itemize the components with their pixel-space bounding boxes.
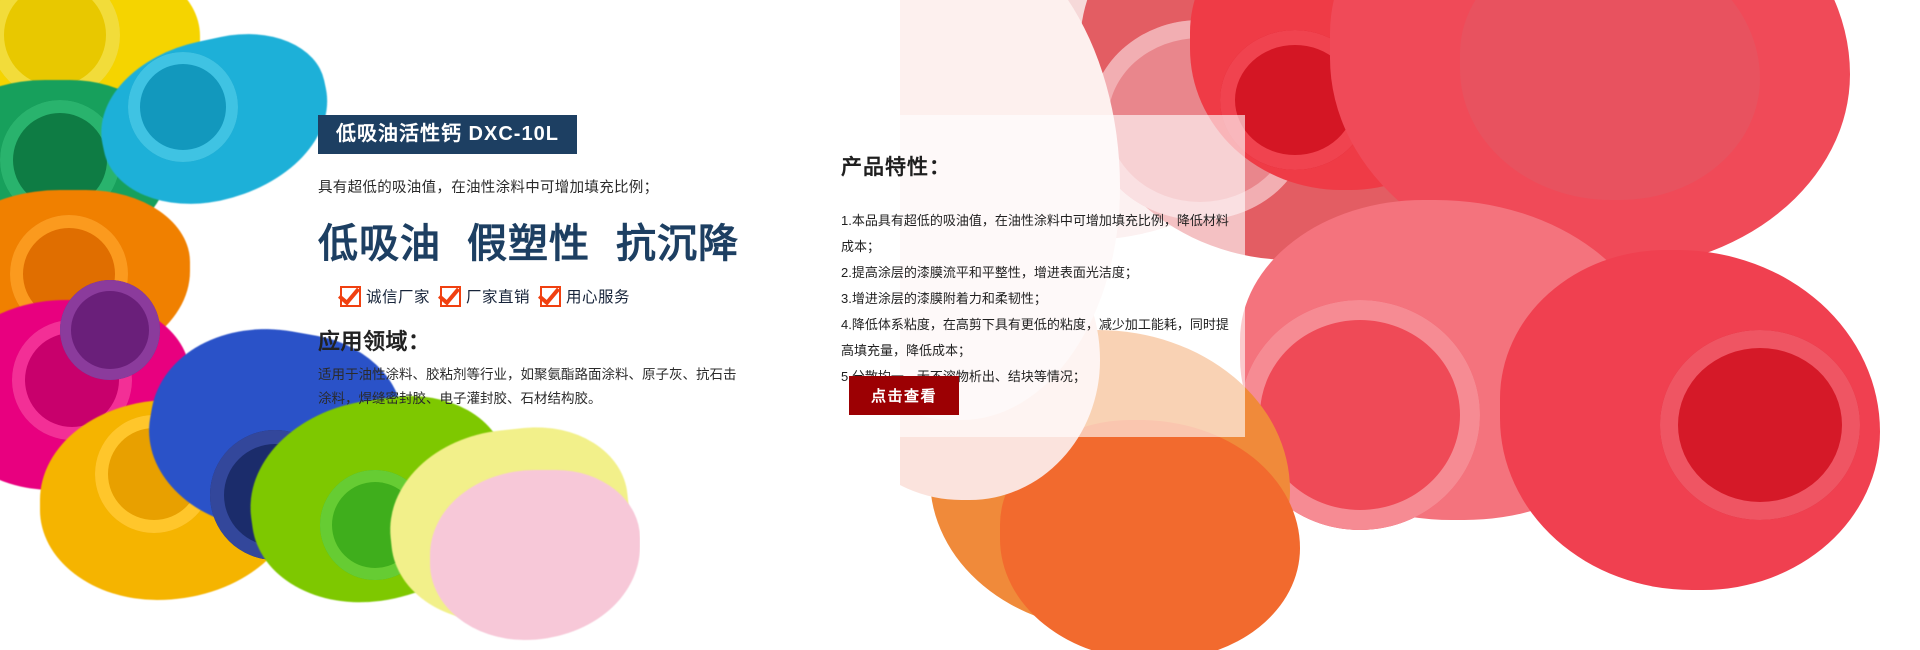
feature-tag-3: 用心服务 [540,285,630,307]
application-line-1: 适用于油性涂料、胶粘剂等行业，如聚氨酯路面涂料、原子灰、抗石击 [318,363,710,387]
product-intro-block: 低吸油活性钙 DXC-10L 具有超低的吸油值，在油性涂料中可增加填充比例； 低… [318,115,718,410]
headline-word-3: 抗沉降 [616,211,739,269]
paint-can-red-4 [1660,330,1860,520]
feature-tag-label-2: 厂家直销 [466,285,530,307]
view-details-button[interactable]: 点击查看 [849,376,959,415]
features-list: 1.本品具有超低的吸油值，在油性涂料中可增加填充比例，降低材料 成本； 2.提高… [841,208,1215,390]
product-title-badge: 低吸油活性钙 DXC-10L [318,115,577,154]
product-headline: 低吸油假塑性抗沉降 [318,211,718,269]
checkbox-checked-icon [540,286,561,307]
feature-line-1: 1.本品具有超低的吸油值，在油性涂料中可增加填充比例，降低材料 [841,208,1215,234]
feature-tag-1: 诚信厂家 [340,285,430,307]
paint-swoosh-pink [430,470,640,640]
checkbox-checked-icon [340,286,361,307]
features-panel-title: 产品特性： [841,151,1215,181]
application-heading: 应用领域： [318,324,718,356]
feature-tag-2: 厂家直销 [440,285,530,307]
feature-line-6: 高填充量，降低成本； [841,338,1215,364]
feature-tag-list: 诚信厂家 厂家直销 用心服务 [318,285,718,307]
checkbox-checked-icon [440,286,461,307]
application-description: 适用于油性涂料、胶粘剂等行业，如聚氨酯路面涂料、原子灰、抗石击 涂料，焊缝密封胶… [318,363,710,410]
feature-line-4: 3.增进涂层的漆膜附着力和柔韧性； [841,286,1215,312]
headline-word-1: 低吸油 [318,211,441,269]
feature-line-3: 2.提高涂层的漆膜流平和平整性，增进表面光洁度； [841,260,1215,286]
features-panel-inner: 产品特性： 1.本品具有超低的吸油值，在油性涂料中可增加填充比例，降低材料 成本… [805,115,1245,390]
feature-tag-label-3: 用心服务 [566,285,630,307]
paint-can-purple [60,280,160,380]
paint-can-cyan [128,52,238,162]
feature-line-2: 成本； [841,234,1215,260]
headline-word-2: 假塑性 [467,211,590,269]
application-line-2: 涂料，焊缝密封胶、电子灌封胶、石材结构胶。 [318,387,710,411]
feature-line-5: 4.降低体系粘度，在高剪下具有更低的粘度，减少加工能耗，同时提 [841,312,1215,338]
banner-stage: 低吸油活性钙 DXC-10L 具有超低的吸油值，在油性涂料中可增加填充比例； 低… [0,0,1920,650]
product-subline: 具有超低的吸油值，在油性涂料中可增加填充比例； [318,176,718,197]
feature-tag-label-1: 诚信厂家 [366,285,430,307]
